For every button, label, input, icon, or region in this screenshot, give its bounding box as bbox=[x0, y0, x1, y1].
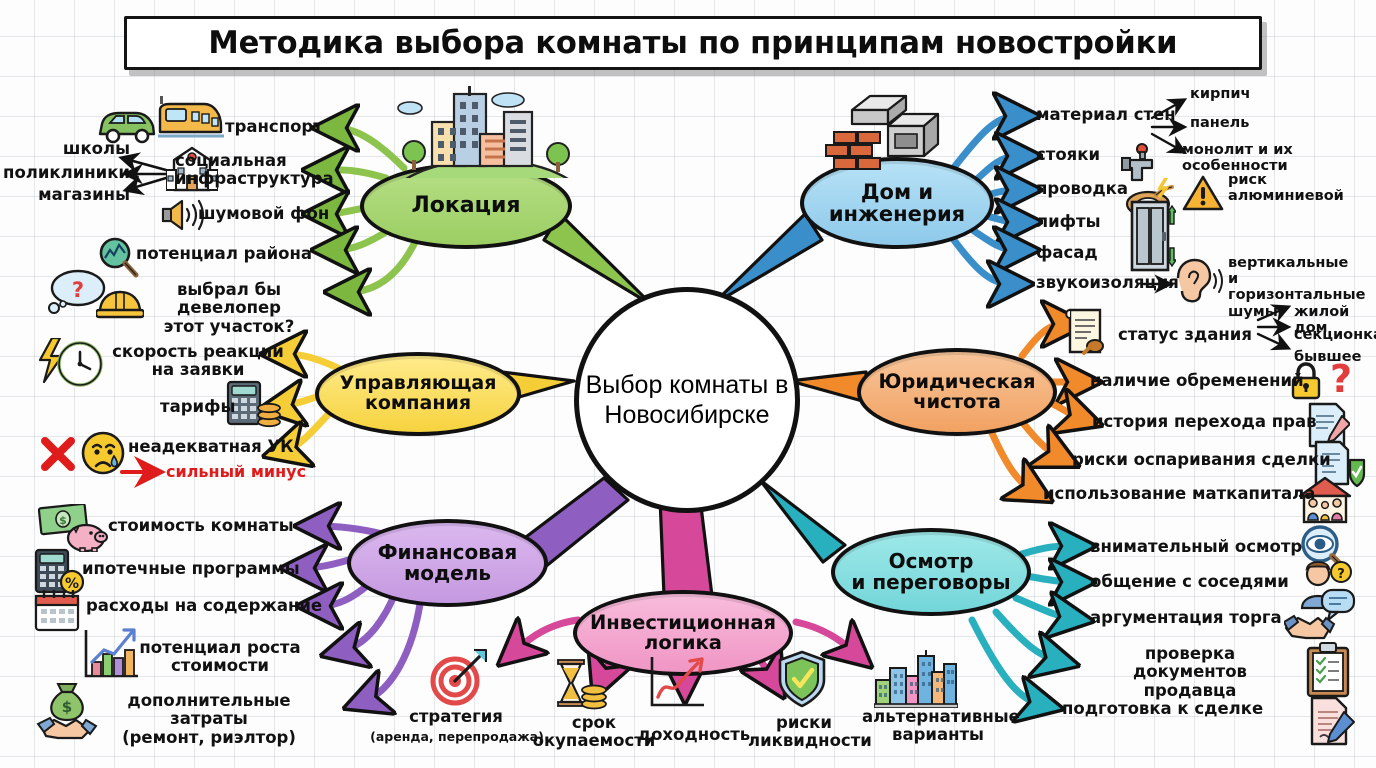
leaf-developer-question[interactable]: выбрал бы девелопер этот участок? bbox=[124, 281, 334, 336]
leaf-liquidity-risks[interactable]: риски ликвидности bbox=[748, 714, 860, 751]
leaf-growth-potential[interactable]: потенциал роста стоимости bbox=[130, 639, 310, 676]
leaf-room-cost[interactable]: стоимость комнаты bbox=[108, 517, 294, 535]
svg-text:$: $ bbox=[62, 698, 72, 716]
leaf-strategy[interactable]: стратегия bbox=[400, 708, 512, 726]
leaf-bad-uk[interactable]: неадекватная УК bbox=[128, 438, 294, 456]
ear-icon bbox=[1172, 258, 1224, 304]
leaf-soundproofing[interactable]: звукоизоляция bbox=[1036, 274, 1179, 292]
svg-text:$: $ bbox=[59, 514, 67, 527]
leaf-bargain-args[interactable]: аргументация торга bbox=[1090, 609, 1282, 627]
branch-osmotr-label: Осмотр и переговоры bbox=[851, 551, 1010, 593]
bricks-icon bbox=[824, 128, 886, 170]
hourglass-coins-icon bbox=[552, 658, 608, 712]
leaf-mortgage-programs[interactable]: ипотечные программы bbox=[82, 560, 300, 578]
page-title: Методика выбора комнаты по принципам нов… bbox=[124, 16, 1262, 70]
center-node-label: Выбор комнаты в Новосибирске bbox=[579, 370, 795, 431]
leaf-brick[interactable]: кирпич bbox=[1190, 86, 1251, 102]
branch-upravlyayushchaya-label: Управляющая компания bbox=[340, 374, 497, 414]
leaf-dispute-risks[interactable]: риски оспаривания сделки bbox=[1072, 451, 1331, 469]
document-pen2-icon bbox=[1308, 694, 1356, 748]
branch-dom-label: Дом и инженерия bbox=[829, 181, 965, 225]
handshake-speech-icon bbox=[1284, 588, 1356, 644]
leaf-facade[interactable]: фасад bbox=[1036, 244, 1098, 262]
center-node[interactable]: Выбор комнаты в Новосибирске bbox=[574, 287, 800, 513]
branch-investicionnaya-label: Инвестиционная логика bbox=[590, 613, 776, 654]
red-cross-icon bbox=[38, 434, 78, 474]
leaf-monolith[interactable]: монолит и их особенности bbox=[1182, 142, 1376, 174]
calendar-icon bbox=[32, 588, 82, 634]
branch-upravlyayushchaya[interactable]: Управляющая компания bbox=[315, 352, 521, 436]
leaf-wall-material[interactable]: материал стен bbox=[1036, 106, 1176, 124]
hollow-block-icon bbox=[884, 110, 942, 162]
leaf-sectional[interactable]: секционка bbox=[1294, 327, 1376, 343]
leaf-noise[interactable]: шумовой фон bbox=[198, 205, 329, 223]
leaf-clinics[interactable]: поликлиники bbox=[2, 164, 130, 182]
leaf-tariffs[interactable]: тарифы bbox=[160, 398, 235, 416]
target-arrow-icon bbox=[428, 648, 488, 708]
branch-finansovaya-label: Финансовая модель bbox=[378, 542, 518, 584]
svg-text:?: ? bbox=[72, 278, 84, 302]
shield-check-icon bbox=[778, 650, 826, 708]
leaf-building-status[interactable]: статус здания bbox=[1118, 326, 1252, 344]
leaf-transport[interactable]: транспорт bbox=[225, 118, 323, 136]
branch-dom[interactable]: Дом и инженерия bbox=[800, 157, 994, 249]
leaf-rights-history[interactable]: история перехода прав bbox=[1092, 413, 1317, 431]
sad-face-icon bbox=[80, 430, 126, 476]
leaf-alternatives[interactable]: альтернативные варианты bbox=[862, 708, 1014, 745]
leaf-social-infra[interactable]: социальная инфраструктура bbox=[175, 152, 325, 189]
leaf-maintenance-costs[interactable]: расходы на содержание bbox=[86, 597, 322, 615]
elevator-icon bbox=[1130, 200, 1176, 272]
leaf-schools[interactable]: школы bbox=[10, 140, 130, 158]
leaf-aluminium-risk: риск алюминиевой bbox=[1228, 172, 1344, 204]
clipboard-check-icon bbox=[1304, 642, 1352, 698]
leaf-deal-prep[interactable]: подготовка к сделке bbox=[1062, 700, 1263, 718]
scroll-seal-icon bbox=[1062, 306, 1114, 358]
branch-yuridicheskaya[interactable]: Юридическая чистота bbox=[857, 348, 1057, 436]
branch-finansovaya[interactable]: Финансовая модель bbox=[347, 519, 548, 607]
branch-osmotr[interactable]: Осмотр и переговоры bbox=[831, 528, 1031, 616]
leaf-risers[interactable]: стояки bbox=[1036, 146, 1100, 164]
leaf-district-potential[interactable]: потенциал района bbox=[136, 245, 312, 263]
leaf-wiring[interactable]: проводка bbox=[1036, 180, 1128, 198]
city-skyline-icon bbox=[874, 650, 958, 708]
leaf-response-speed[interactable]: скорость реакции на заявки bbox=[108, 343, 288, 380]
leaf-strong-minus: сильный минус bbox=[166, 463, 306, 481]
money-piggy-icon: $ bbox=[38, 504, 110, 552]
leaf-encumbrances[interactable]: наличие обременений bbox=[1090, 372, 1304, 390]
city-hill-icon bbox=[392, 86, 582, 178]
leaf-neighbors[interactable]: общение с соседями bbox=[1090, 573, 1289, 591]
leaf-shops[interactable]: магазины bbox=[10, 186, 130, 204]
leaf-yield[interactable]: доходность bbox=[634, 726, 754, 744]
page-title-text: Методика выбора комнаты по принципам нов… bbox=[209, 25, 1178, 61]
leaf-former[interactable]: бывшее bbox=[1294, 349, 1361, 365]
leaf-extra-costs[interactable]: дополнительные затраты (ремонт, риэлтор) bbox=[86, 692, 332, 747]
growth-chart-icon bbox=[646, 655, 708, 713]
svg-text:?: ? bbox=[1337, 567, 1345, 582]
leaf-careful-inspection[interactable]: внимательный осмотр bbox=[1090, 538, 1302, 556]
warning-triangle-icon bbox=[1182, 174, 1224, 212]
branch-yuridicheskaya-label: Юридическая чистота bbox=[878, 372, 1035, 413]
branch-lokaciya-label: Локация bbox=[411, 194, 520, 217]
leaf-panel[interactable]: панель bbox=[1190, 115, 1249, 131]
leaf-matkapital[interactable]: использование маткапитала bbox=[1043, 485, 1315, 503]
leaf-seller-docs[interactable]: проверка документов продавца bbox=[1086, 645, 1294, 700]
leaf-elevators[interactable]: лифты bbox=[1036, 213, 1101, 231]
lightning-clock-icon bbox=[38, 338, 106, 390]
train-icon bbox=[158, 96, 224, 146]
